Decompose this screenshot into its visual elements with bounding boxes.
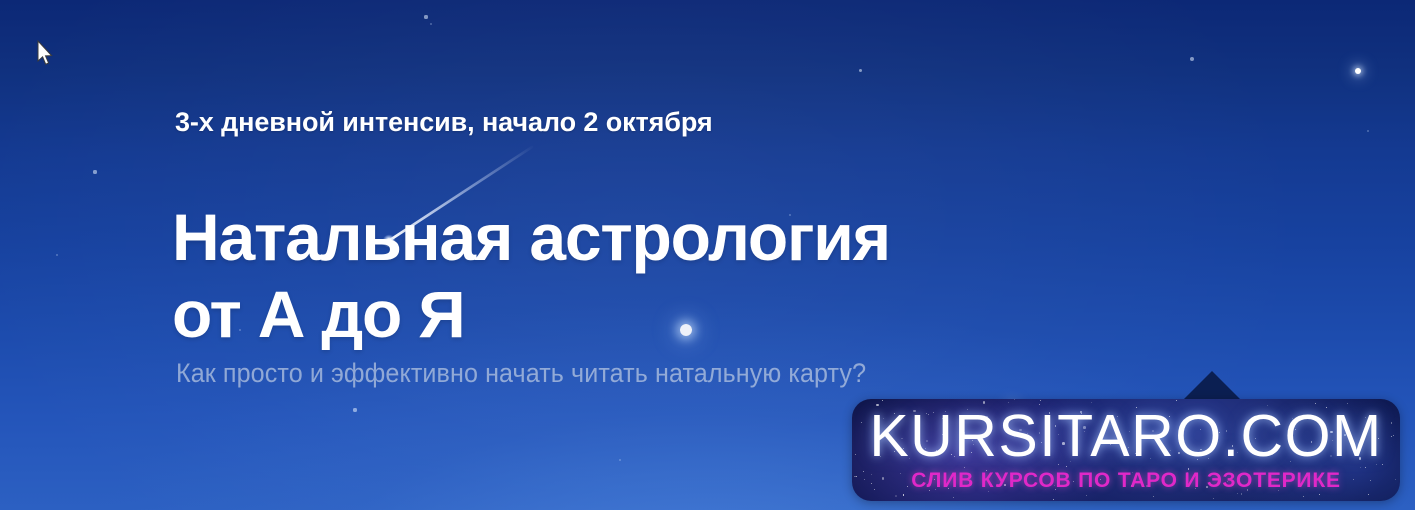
badge-star-icon [903, 494, 905, 496]
badge-star-icon [1014, 399, 1015, 400]
star-icon [353, 408, 356, 411]
badge-star-icon [1303, 496, 1304, 497]
watermark-tagline: СЛИВ КУРСОВ ПО ТАРО И ЭЗОТЕРИКЕ [852, 469, 1400, 493]
badge-star-icon [1040, 400, 1041, 401]
hero-section: 3-х дневной интенсив, начало 2 октября Н… [0, 0, 1415, 510]
watermark-domain: KURSITARO.COM [852, 402, 1400, 470]
badge-star-icon [1237, 493, 1238, 494]
badge-star-icon [1153, 496, 1154, 497]
hero-eyebrow: 3-х дневной интенсив, начало 2 октября [175, 107, 713, 138]
badge-star-icon [1086, 495, 1087, 496]
star-icon [859, 69, 862, 72]
badge-star-icon [1319, 494, 1320, 495]
badge-star-icon [953, 497, 954, 498]
star-icon [430, 23, 433, 26]
mouse-pointer-icon [36, 40, 56, 68]
star-icon [56, 254, 59, 257]
badge-star-icon [1213, 498, 1214, 499]
star-icon [93, 170, 96, 173]
badge-star-icon [1241, 493, 1243, 495]
page-title: Натальная астрология от А до Я [172, 199, 890, 353]
star-icon [424, 15, 427, 18]
badge-star-icon [1368, 494, 1369, 495]
star-icon [619, 459, 622, 462]
badge-star-icon [895, 495, 897, 497]
watermark-badge: KURSITARO.COM СЛИВ КУРСОВ ПО ТАРО И ЭЗОТ… [852, 399, 1400, 501]
badge-star-icon [882, 400, 883, 401]
star-icon [1355, 68, 1361, 74]
badge-star-icon [1053, 499, 1054, 500]
hero-subheadline: Как просто и эффективно начать читать на… [176, 358, 866, 389]
star-icon [1190, 57, 1194, 61]
star-icon [1367, 130, 1370, 133]
